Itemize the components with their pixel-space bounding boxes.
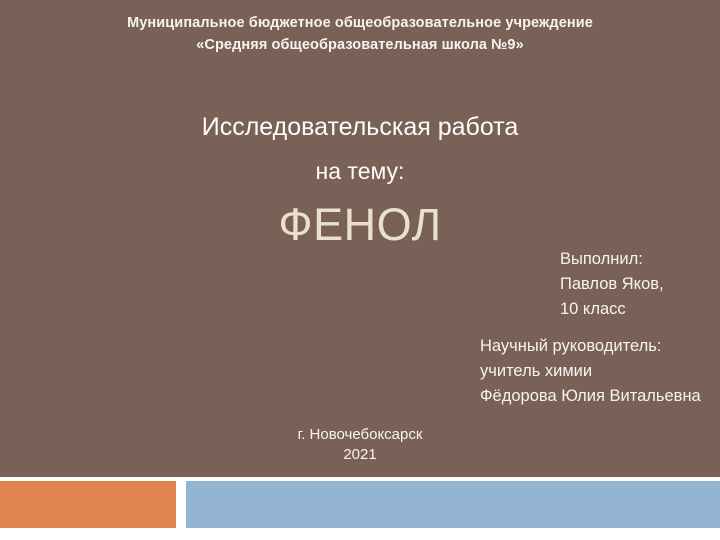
supervisor-name: Фёдорова Юлия Витальевна — [480, 384, 720, 409]
topic-intro-label: на тему: — [0, 155, 720, 188]
decorative-bar-blue — [186, 481, 720, 528]
author-credit-block: Выполнил: Павлов Яков, 10 класс — [560, 247, 720, 322]
slide-footer: г. Новочебоксарск 2021 — [0, 425, 720, 465]
supervisor-label: Научный руководитель: — [480, 334, 720, 359]
institution-name-line-2: «Средняя общеобразовательная школа №9» — [0, 34, 720, 56]
supervisor-credit-block: Научный руководитель: учитель химии Фёдо… — [480, 334, 720, 409]
footer-city: г. Новочебоксарск — [0, 425, 720, 445]
presentation-slide: Муниципальное бюджетное общеобразователь… — [0, 0, 720, 540]
institution-name-line-1: Муниципальное бюджетное общеобразователь… — [0, 12, 720, 34]
supervisor-position: учитель химии — [480, 359, 720, 384]
author-grade: 10 класс — [560, 297, 720, 322]
author-label: Выполнил: — [560, 247, 720, 272]
slide-title-block: Исследовательская работа на тему: ФЕНОЛ — [0, 110, 720, 252]
decorative-bar-orange — [0, 481, 176, 528]
footer-year: 2021 — [0, 445, 720, 465]
institution-header: Муниципальное бюджетное общеобразователь… — [0, 12, 720, 56]
page-title: ФЕНОЛ — [0, 198, 720, 252]
work-type-label: Исследовательская работа — [0, 110, 720, 144]
author-name: Павлов Яков, — [560, 272, 720, 297]
